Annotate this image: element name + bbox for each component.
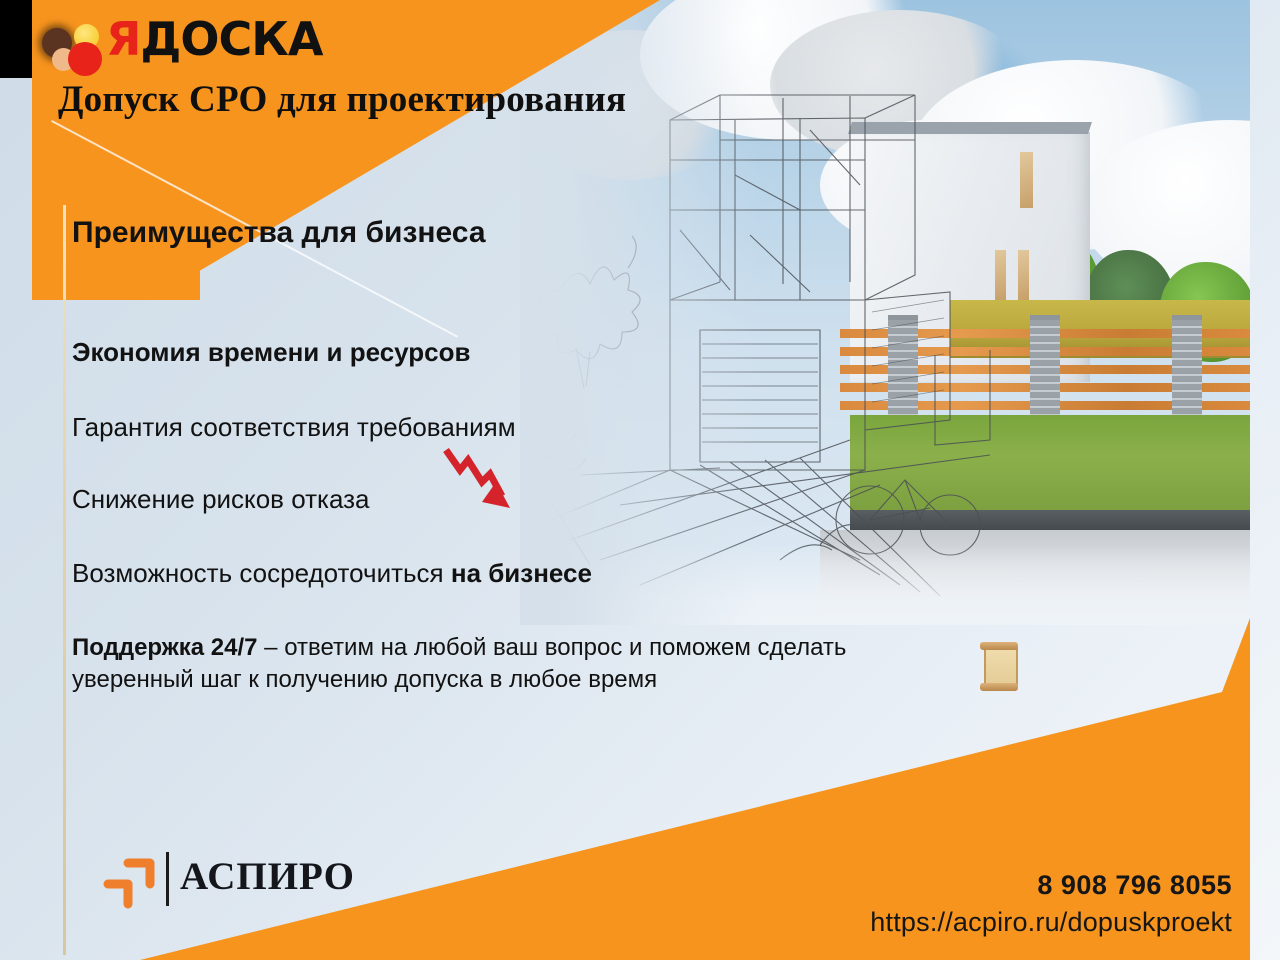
benefit-item-3: Снижение рисков отказа — [72, 484, 370, 515]
support-lead: Поддержка 24/7 — [72, 634, 258, 661]
scroll-icon — [980, 640, 1018, 692]
house-photo-montage — [520, 0, 1250, 625]
logo-divider — [166, 852, 169, 906]
benefit-item-2: Гарантия соответствия требованиям — [72, 412, 516, 443]
benefit-item-4-strong: на бизнесе — [451, 558, 592, 588]
benefit-item-4: Возможность сосредоточиться на бизнесе — [72, 558, 592, 589]
slide-canvas: ЯДОСКА Допуск СРО для проектирования Пре… — [0, 0, 1280, 960]
section-subhead: Преимущества для бизнеса — [72, 216, 486, 250]
aspiro-arrow-mark-icon — [100, 854, 158, 910]
watermark-text-rest: ДОСКА — [140, 12, 322, 66]
watermark-text-ya: Я — [106, 12, 140, 66]
top-left-black-block — [0, 0, 32, 78]
brand-name: АСПИРО — [180, 854, 355, 899]
red-zigzag-down-arrow-icon — [440, 444, 518, 516]
support-paragraph: Поддержка 24/7 – ответим на любой ваш во… — [72, 632, 972, 696]
page-title: Допуск СРО для проектирования — [58, 78, 626, 121]
benefit-item-1: Экономия времени и ресурсов — [72, 337, 470, 368]
contact-block: 8 908 796 8055 https://acpiro.ru/dopuskp… — [870, 867, 1232, 940]
contact-url[interactable]: https://acpiro.ru/dopuskproekt — [870, 904, 1232, 940]
contact-phone[interactable]: 8 908 796 8055 — [870, 867, 1232, 903]
yadoska-watermark: ЯДОСКА — [30, 14, 280, 76]
watermark-text: ЯДОСКА — [106, 16, 322, 62]
left-vertical-rule — [63, 205, 66, 955]
watermark-dot-red — [68, 42, 102, 76]
architectural-pencil-sketch — [520, 0, 1250, 625]
benefit-item-4-prefix: Возможность сосредоточиться — [72, 558, 451, 588]
aspiro-logo[interactable]: АСПИРО — [100, 852, 400, 914]
